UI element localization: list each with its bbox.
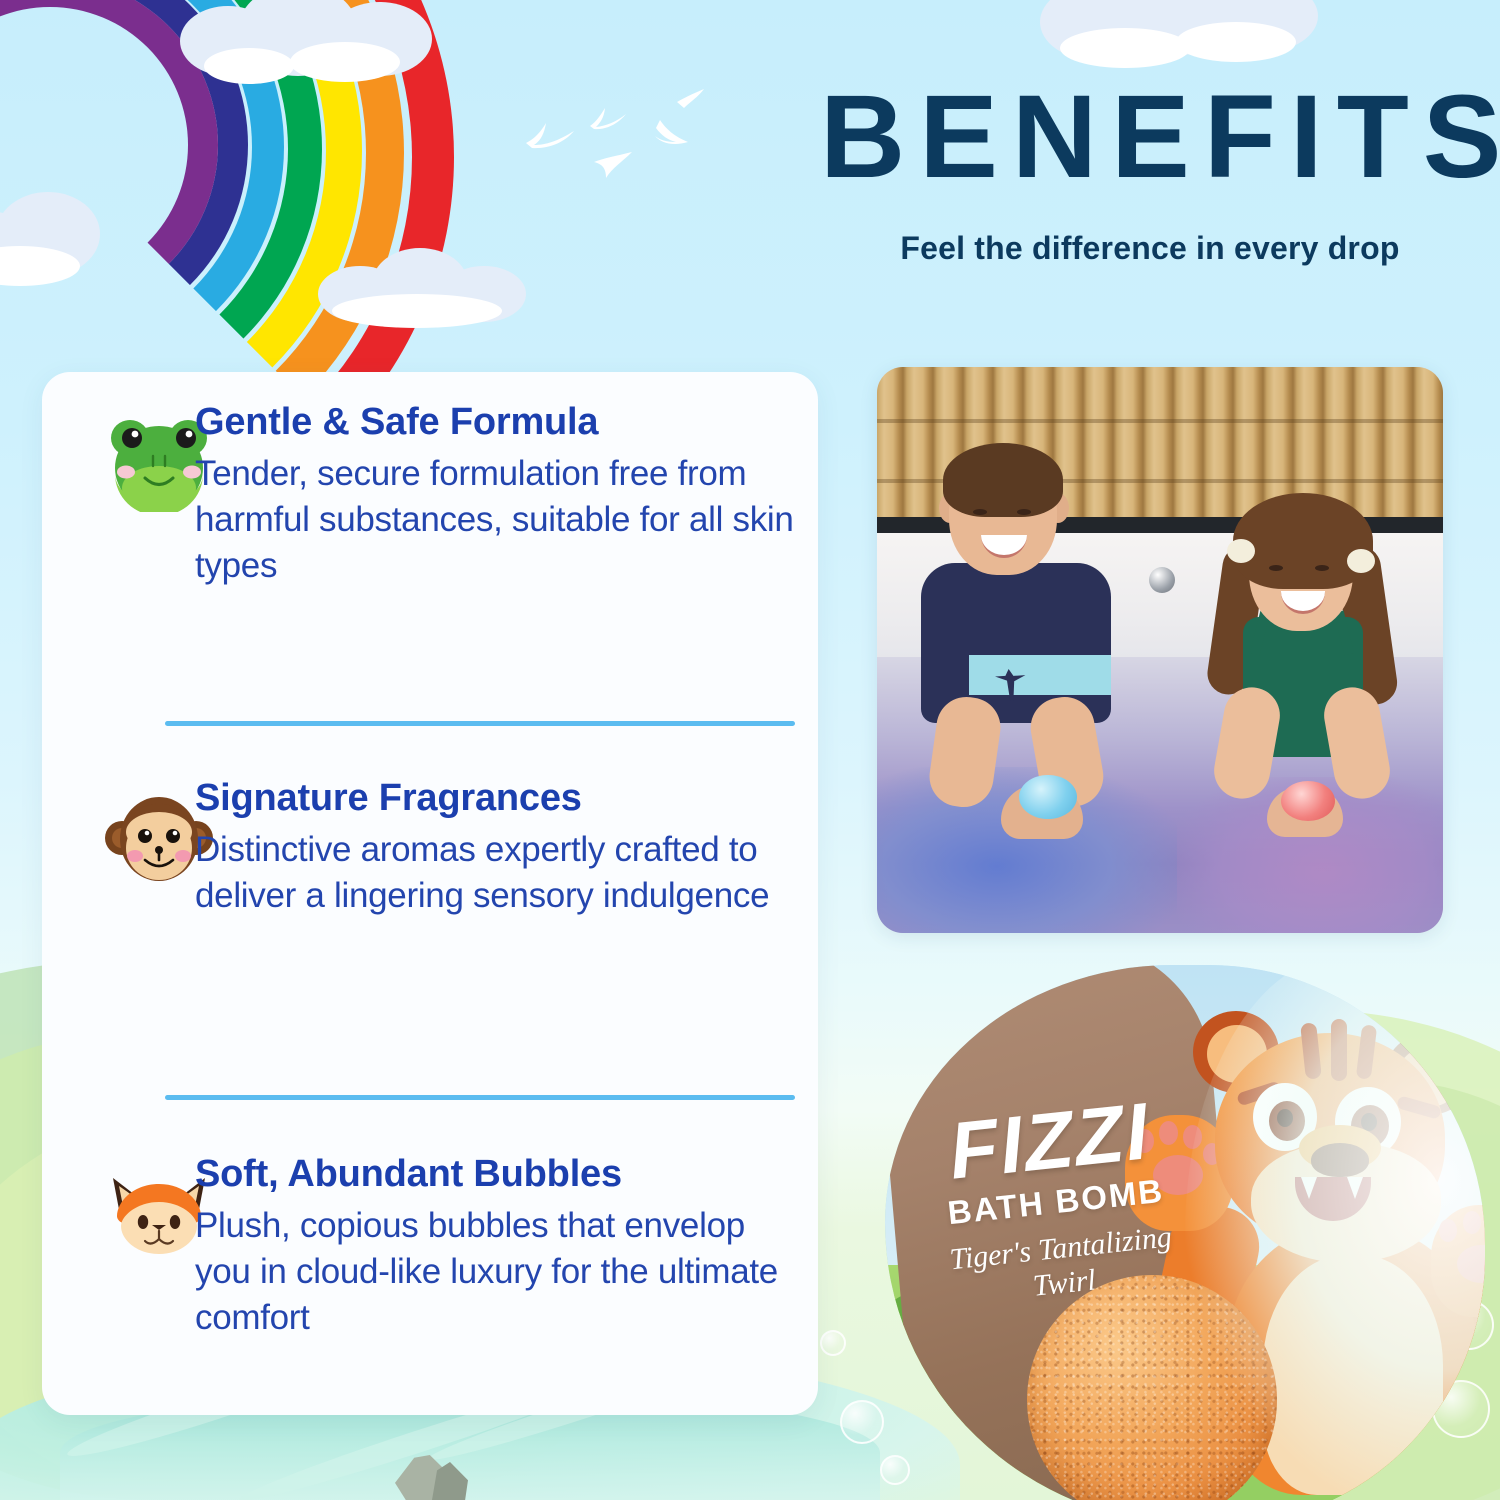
benefit-body: Tender, secure formulation free from har…	[195, 451, 805, 590]
boy-shirt-stripe	[969, 655, 1111, 695]
benefit-title: Soft, Abundant Bubbles	[195, 1152, 805, 1197]
benefit-title: Gentle & Safe Formula	[195, 400, 805, 445]
tub-drain	[1149, 567, 1175, 593]
page-subtitle: Feel the difference in every drop	[820, 230, 1480, 267]
benefit-text-block: Gentle & Safe Formula Tender, secure for…	[195, 400, 805, 589]
benefits-card: Gentle & Safe Formula Tender, secure for…	[42, 372, 818, 1415]
benefit-body: Distinctive aromas expertly crafted to d…	[195, 827, 805, 919]
bamboo-node	[877, 419, 1443, 423]
girl-hair-bow	[1347, 549, 1375, 573]
boy-eye	[973, 509, 987, 515]
foam-overlay	[1185, 965, 1485, 1500]
red-bath-bomb	[1281, 781, 1335, 821]
girl-hair-bow	[1227, 539, 1255, 563]
benefit-divider	[165, 721, 795, 726]
soap-bubble-icon	[820, 1330, 846, 1356]
packaging-blob: FIZZI BATH BOMB Tiger's Tantalizing Twir…	[885, 965, 1485, 1500]
benefit-body: Plush, copious bubbles that envelop you …	[195, 1203, 805, 1342]
boy-hair	[943, 443, 1063, 517]
poster-canvas: BENEFITS Feel the difference in every dr…	[0, 0, 1500, 1500]
poster-header: BENEFITS Feel the difference in every dr…	[820, 78, 1480, 267]
benefit-title: Signature Fragrances	[195, 776, 805, 821]
benefit-text-block: Signature Fragrances Distinctive aromas …	[195, 776, 805, 919]
bird-silhouette-icon	[592, 146, 636, 180]
bird-silhouette-icon	[524, 113, 576, 149]
boy-shirt	[921, 563, 1111, 723]
boy-eye	[1017, 509, 1031, 515]
benefit-text-block: Soft, Abundant Bubbles Plush, copious bu…	[195, 1152, 805, 1341]
blue-bath-bomb	[1019, 775, 1077, 819]
product-packaging-art: FIZZI BATH BOMB Tiger's Tantalizing Twir…	[855, 955, 1500, 1500]
girl-eye	[1315, 565, 1329, 571]
girl-eye	[1269, 565, 1283, 571]
bird-silhouette-icon	[676, 88, 706, 110]
bird-silhouette-icon	[654, 118, 690, 146]
kids-bathtub-photo	[877, 367, 1443, 933]
bird-silhouette-icon	[588, 102, 628, 130]
benefit-divider	[165, 1095, 795, 1100]
girl-hair	[1233, 493, 1373, 589]
page-title: BENEFITS	[820, 78, 1480, 196]
